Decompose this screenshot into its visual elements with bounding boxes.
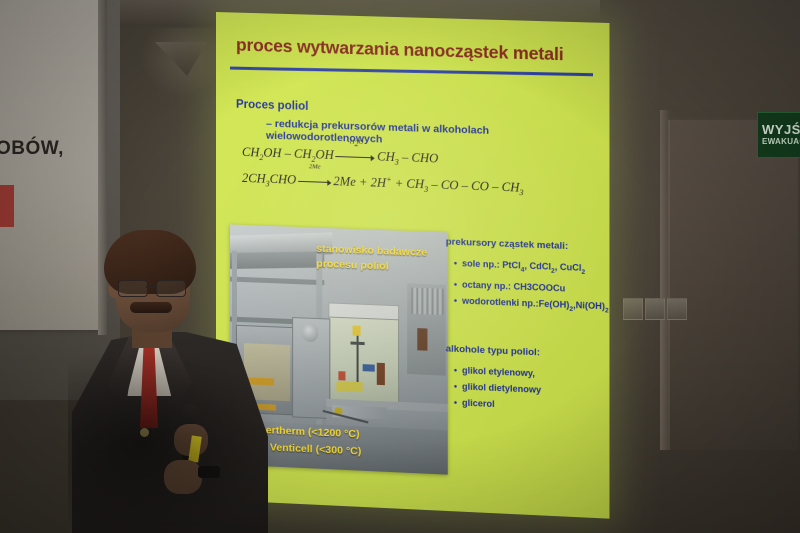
emergency-exit-sign: WYJŚCIE EWAKUACYJNE: [757, 112, 800, 158]
exit-sign-line2: EWAKUACYJNE: [762, 137, 800, 147]
reaction-arrow-2-label: 2Me: [298, 163, 331, 171]
glasses-lens-left: [118, 280, 148, 297]
precursors-list: •sole np.: PtCl4, CdCl2, CuCl2 •octany n…: [454, 255, 610, 319]
alcohols-list: •glikol etylenowy, •glikol dietylenowy •…: [454, 362, 610, 417]
room-door[interactable]: [668, 118, 798, 450]
reaction-arrow-1: -H2O: [336, 149, 375, 165]
glasses-bridge: [146, 286, 156, 288]
speaker-figure: [78, 228, 268, 533]
alcohols-heading: alkohole typu poliol:: [446, 343, 540, 358]
poster-red-mark: [0, 185, 14, 227]
screenshot-root: OBÓW, WYJŚCIE EWAKUACYJNE proces wytwarz…: [0, 0, 800, 533]
exit-sign-line1: WYJŚCIE: [762, 123, 800, 137]
glasses-lens-right: [156, 280, 186, 297]
poster-text: OBÓW,: [0, 138, 96, 160]
equation-2-left: 2CH3CHO: [242, 171, 296, 187]
title-underline: [230, 67, 593, 76]
equation-1-right: CH3 – CHO: [377, 149, 438, 165]
reaction-arrow-2: 2Me: [298, 174, 331, 190]
light-switch-2[interactable]: [645, 298, 665, 320]
glasses-icon: [118, 280, 192, 296]
slide-title: proces wytwarzania nanocząstek metali: [236, 35, 591, 67]
light-switch-3[interactable]: [667, 298, 687, 320]
equation-1: CH2OH – CH2OH-H2OCH3 – CHO: [242, 145, 438, 168]
equation-2-right: 2Me + 2H+ + CH3 – CO – CO – CH3: [333, 174, 523, 195]
photo-overlay-caption: stanowisko badawcze procesu poliol: [316, 242, 448, 277]
speaker-shadow: [68, 348, 278, 533]
light-switch-1[interactable]: [623, 298, 643, 320]
speaker-mustache: [130, 302, 172, 313]
reaction-arrow-1-label: -H2O: [336, 138, 375, 149]
precursors-heading: prekursory cząstek metali:: [446, 236, 568, 252]
equation-2: 2CH3CHO2Me2Me + 2H+ + CH3 – CO – CO – CH…: [242, 170, 524, 198]
section-heading: Proces poliol: [236, 99, 308, 113]
equation-1-left: CH2OH – CH2OH: [242, 145, 334, 162]
